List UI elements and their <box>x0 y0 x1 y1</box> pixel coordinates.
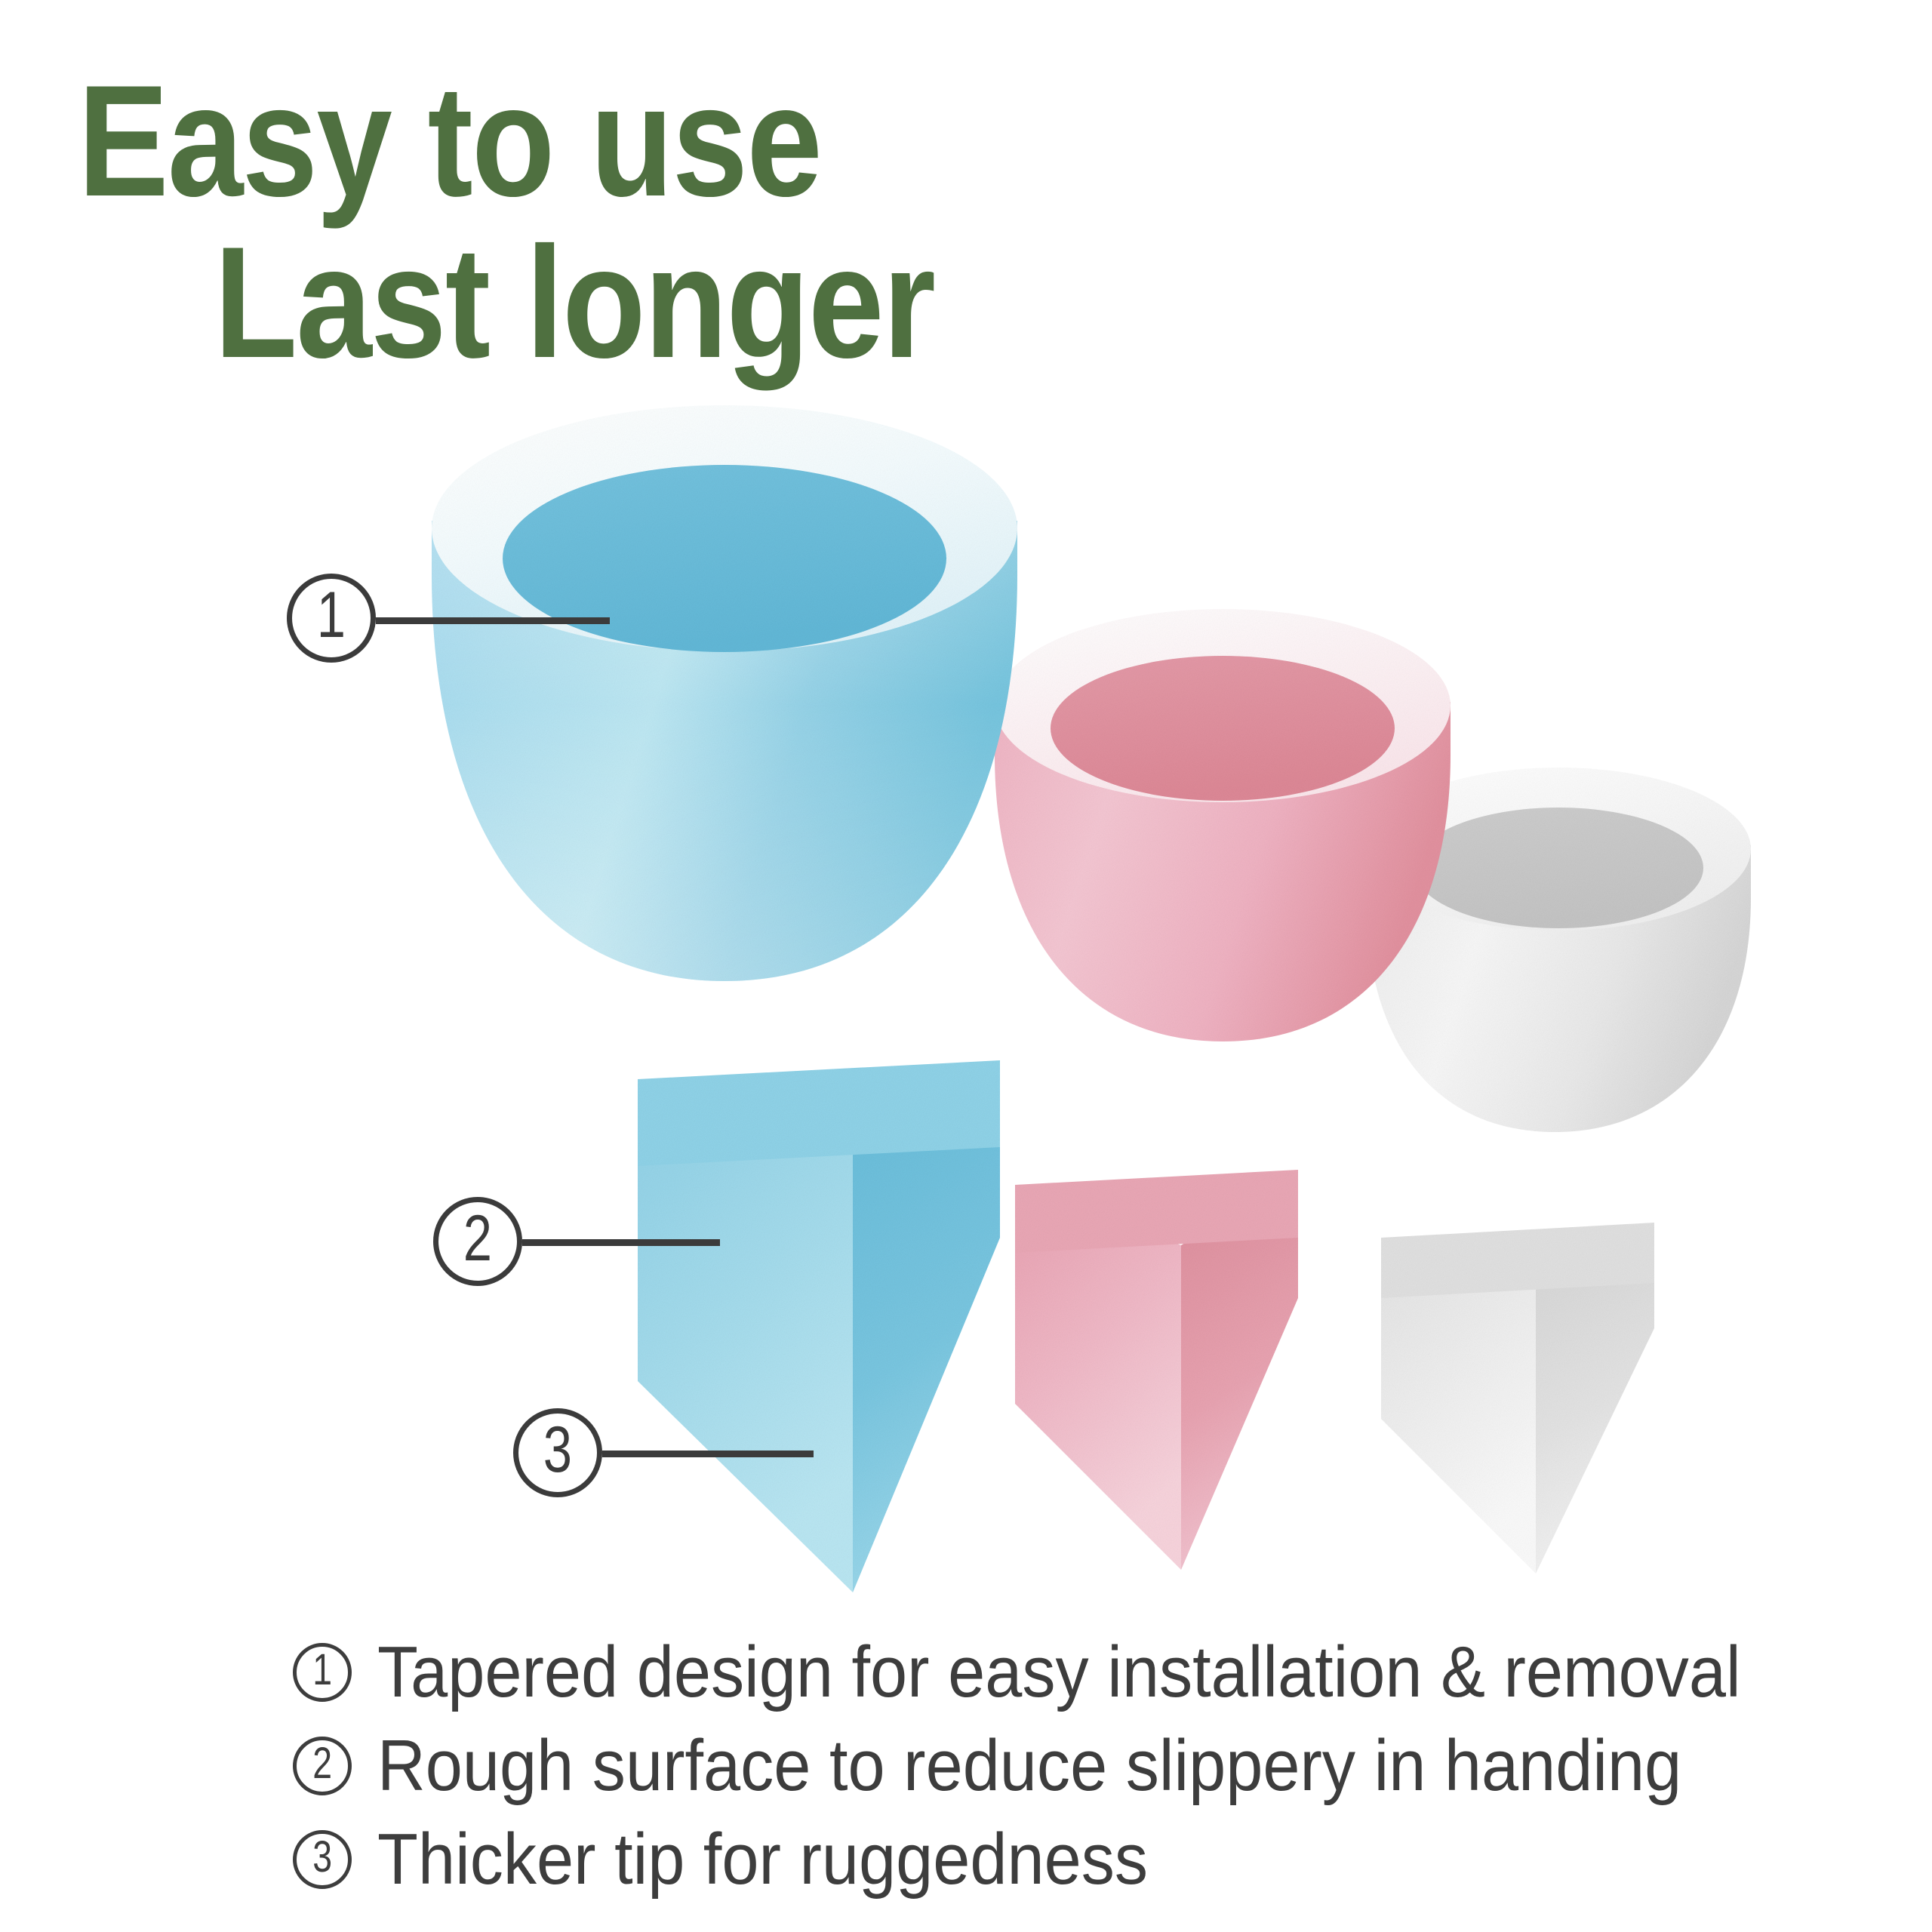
leader-line-2 <box>522 1239 720 1246</box>
pink-stake <box>995 609 1451 1570</box>
headline-line-2: Last longer <box>0 222 1558 383</box>
legend-badge-1-number: 1 <box>312 1648 332 1692</box>
legend-badge-2-number: 2 <box>312 1742 332 1786</box>
callout-marker-3[interactable]: 3 <box>513 1408 602 1497</box>
leader-line-1 <box>376 617 610 624</box>
legend-item-2: 2 Rough surface to reduce slippery in ha… <box>293 1725 1840 1807</box>
blue-stake <box>432 405 1017 1592</box>
callout-marker-1-number: 1 <box>317 583 346 648</box>
legend-badge-3: 3 <box>293 1830 352 1889</box>
legend-list: 1 Tapered design for easy installation &… <box>293 1632 1840 1912</box>
legend-text-3: Thicker tip for ruggedness <box>377 1823 1148 1896</box>
callout-marker-3-number: 3 <box>543 1417 572 1482</box>
leader-line-3 <box>602 1451 814 1457</box>
legend-badge-2: 2 <box>293 1737 352 1795</box>
legend-badge-3-number: 3 <box>312 1835 332 1879</box>
callout-marker-2-number: 2 <box>463 1206 492 1271</box>
page-title: Easy to use Last longer <box>0 60 1558 383</box>
legend-text-2: Rough surface to reduce slippery in hand… <box>377 1730 1681 1802</box>
headline-line-1: Easy to use <box>0 60 1558 222</box>
callout-marker-2[interactable]: 2 <box>433 1197 522 1286</box>
infographic-canvas: Easy to use Last longer <box>0 0 1932 1932</box>
legend-item-3: 3 Thicker tip for ruggedness <box>293 1819 1840 1900</box>
legend-text-1: Tapered design for easy installation & r… <box>377 1636 1741 1709</box>
white-stake <box>1366 768 1751 1574</box>
legend-item-1: 1 Tapered design for easy installation &… <box>293 1632 1840 1713</box>
callout-marker-1[interactable]: 1 <box>287 574 376 663</box>
legend-badge-1: 1 <box>293 1643 352 1702</box>
